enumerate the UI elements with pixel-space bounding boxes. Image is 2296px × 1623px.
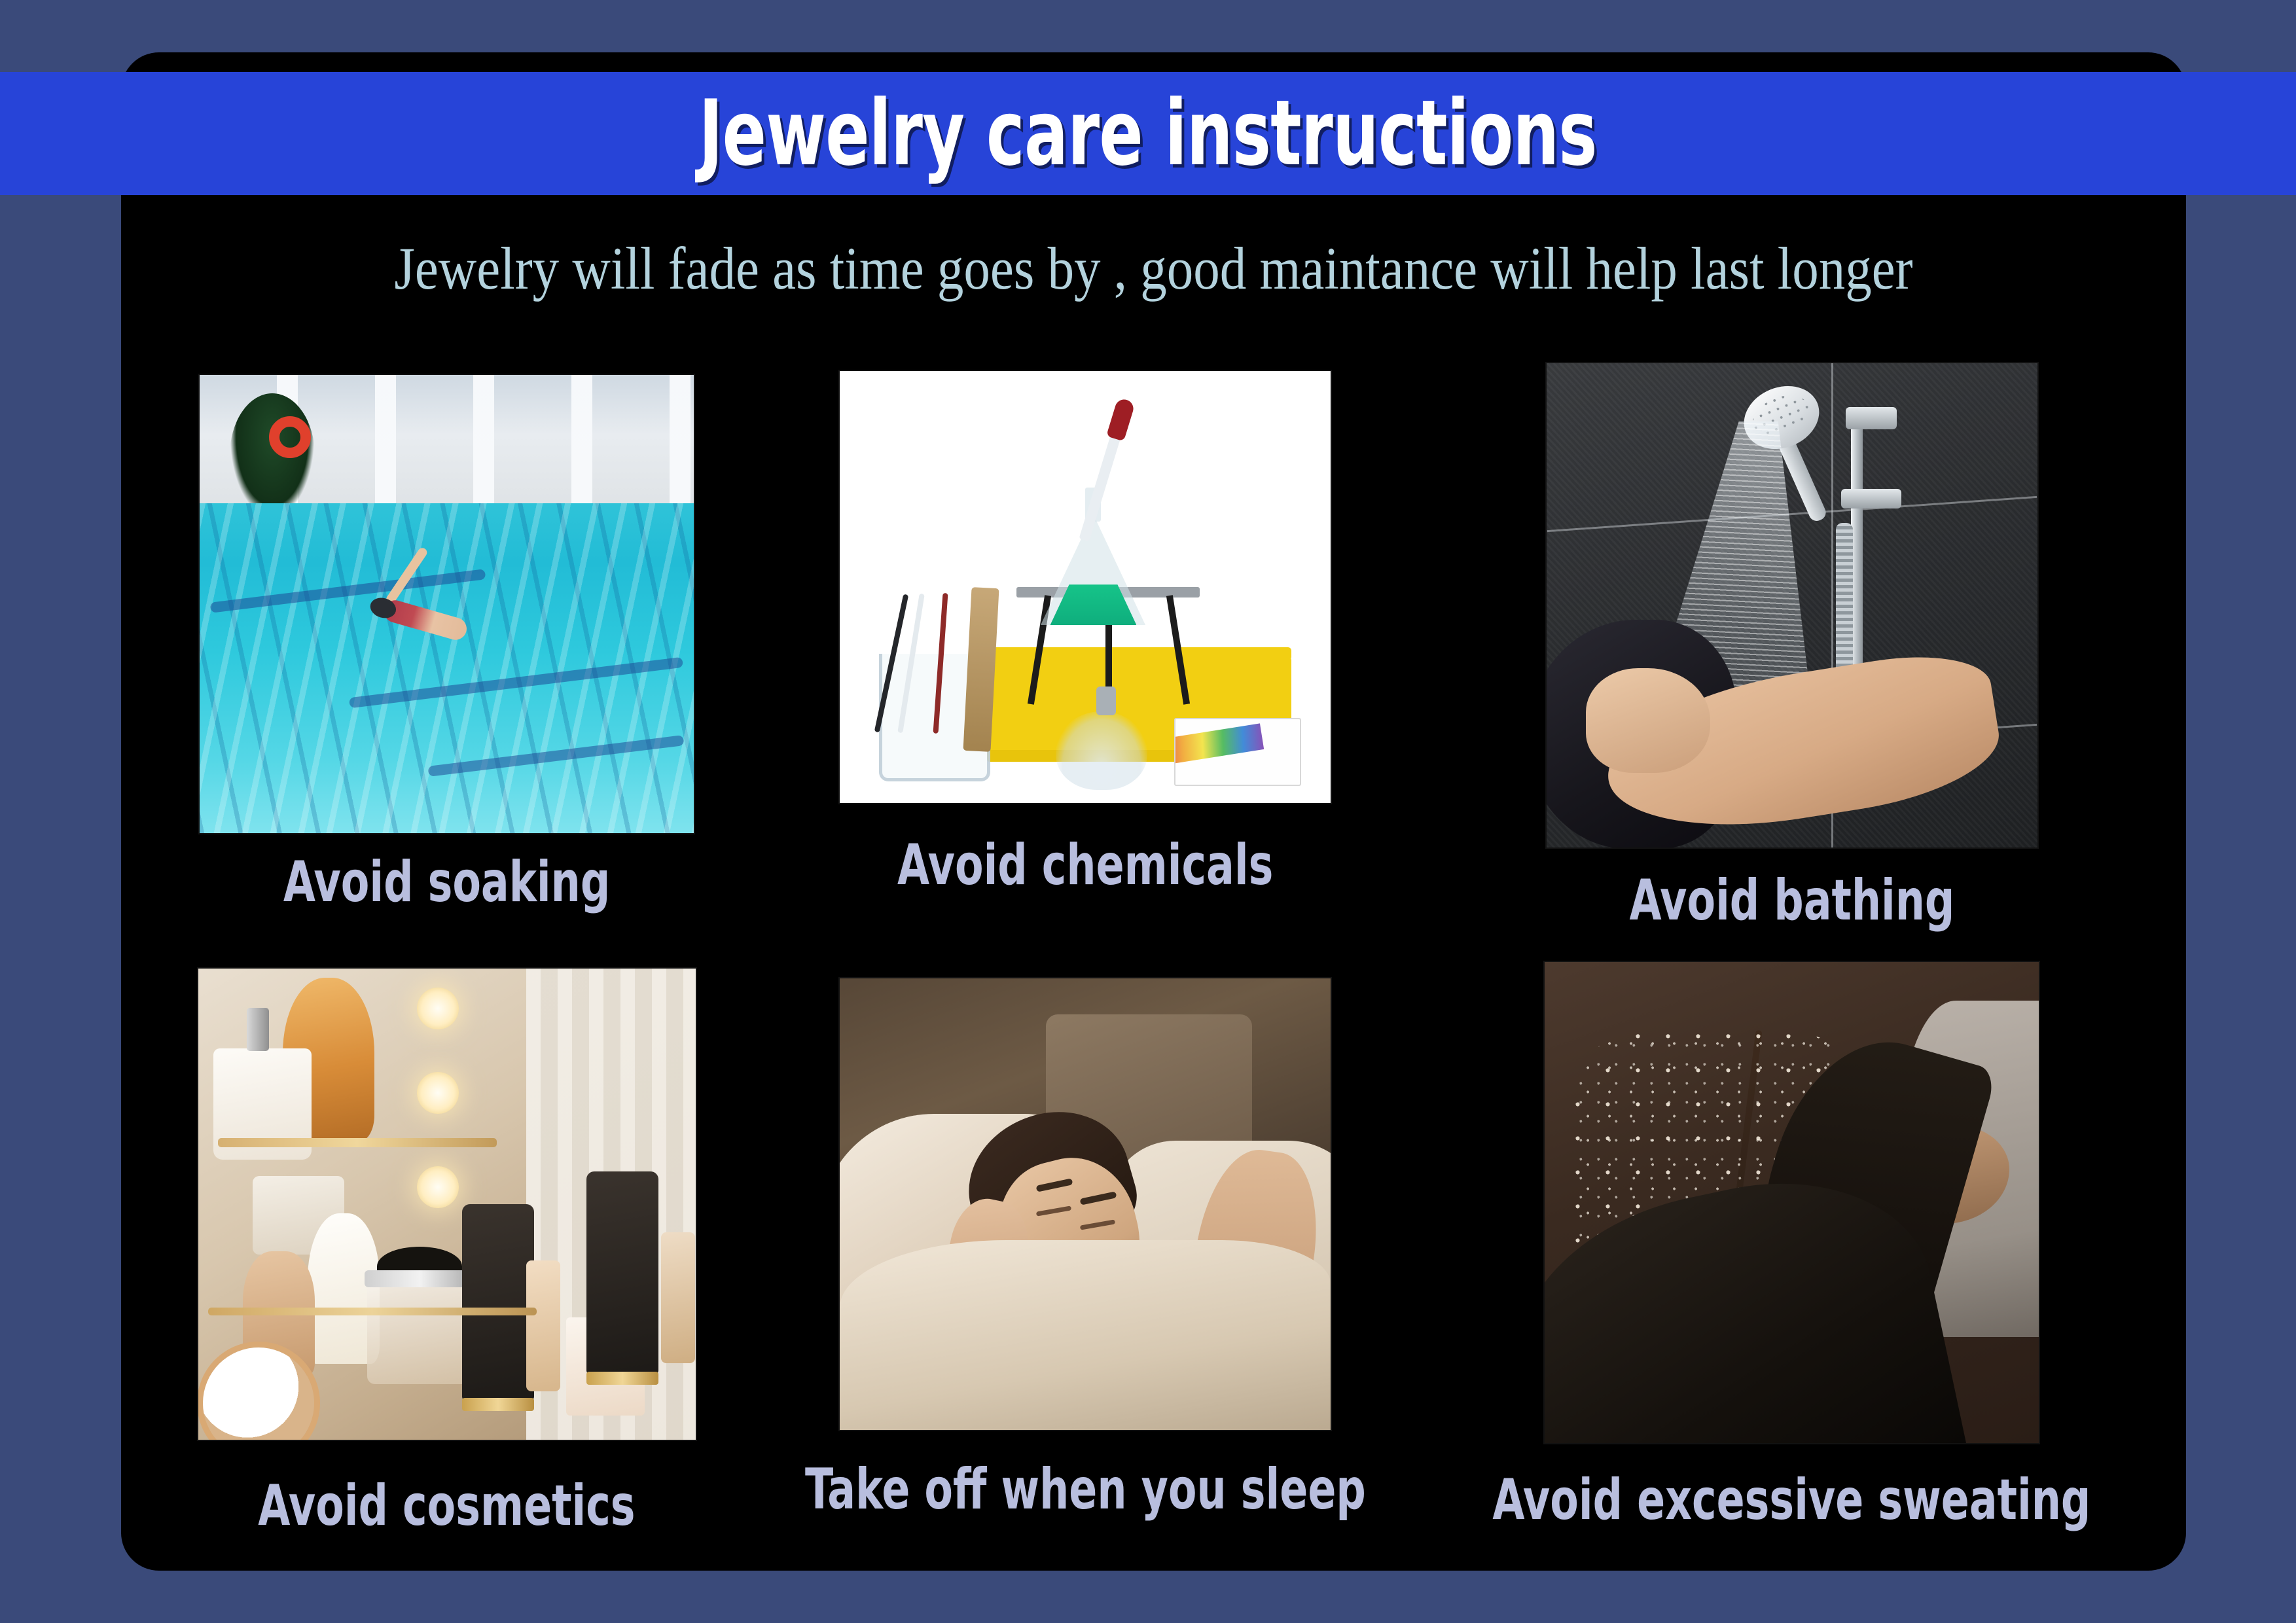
duvet bbox=[840, 1240, 1331, 1430]
gold-tray-shelf bbox=[218, 1138, 497, 1147]
care-tile-avoid-chemicals: Avoid chemicals bbox=[744, 363, 1427, 962]
shower-image bbox=[1547, 363, 2037, 847]
tile-caption: Take off when you sleep bbox=[805, 1461, 1366, 1518]
subtitle-text: Jewelry will fade as time goes by , good… bbox=[245, 236, 2062, 302]
tile-caption: Avoid excessive sweating bbox=[1493, 1472, 2091, 1528]
shower-bar-bracket bbox=[1841, 489, 1901, 508]
care-tile-avoid-cosmetics: Avoid cosmetics bbox=[151, 962, 744, 1561]
alcohol-burner-icon bbox=[1056, 711, 1147, 790]
cotton-swab-jar bbox=[367, 1279, 472, 1384]
care-instruction-grid: Avoid soaking bbox=[151, 363, 2157, 1561]
shower-bar-bracket bbox=[1846, 407, 1897, 429]
hand bbox=[1586, 668, 1710, 773]
sunscreen-tube bbox=[462, 1204, 534, 1400]
cosmetics-image bbox=[198, 969, 696, 1440]
life-ring-icon bbox=[269, 416, 311, 458]
tile-caption: Avoid bathing bbox=[1629, 872, 1954, 929]
tile-caption: Avoid chemicals bbox=[897, 837, 1273, 893]
tripod-leg bbox=[1166, 595, 1190, 704]
tile-caption: Avoid soaking bbox=[283, 854, 610, 910]
tile-caption: Avoid cosmetics bbox=[259, 1478, 636, 1534]
vanity-bulb-icon bbox=[417, 988, 459, 1029]
dark-cosmetic-tube bbox=[586, 1171, 658, 1374]
ph-test-strips-box bbox=[1174, 718, 1301, 786]
care-tile-avoid-excessive-sweating: Avoid excessive sweating bbox=[1427, 962, 2157, 1561]
page-title: Jewelry care instructions bbox=[699, 88, 1597, 179]
foundation-tube bbox=[661, 1232, 695, 1363]
care-tile-avoid-bathing: Avoid bathing bbox=[1427, 363, 2157, 962]
potted-plant-icon bbox=[230, 393, 315, 518]
sleeping-image bbox=[840, 978, 1331, 1430]
care-tile-take-off-when-you-sleep: Take off when you sleep bbox=[744, 962, 1427, 1561]
concealer-stick bbox=[526, 1260, 560, 1391]
vanity-table-top bbox=[208, 1308, 537, 1315]
poster-root: Jewelry care instructions Jewelry will f… bbox=[0, 0, 2296, 1623]
chemistry-set-image bbox=[840, 371, 1331, 803]
care-tile-avoid-soaking: Avoid soaking bbox=[151, 363, 744, 962]
sweating-image bbox=[1545, 962, 2039, 1443]
title-banner: Jewelry care instructions bbox=[0, 72, 2296, 195]
swimming-pool-image bbox=[200, 375, 694, 833]
